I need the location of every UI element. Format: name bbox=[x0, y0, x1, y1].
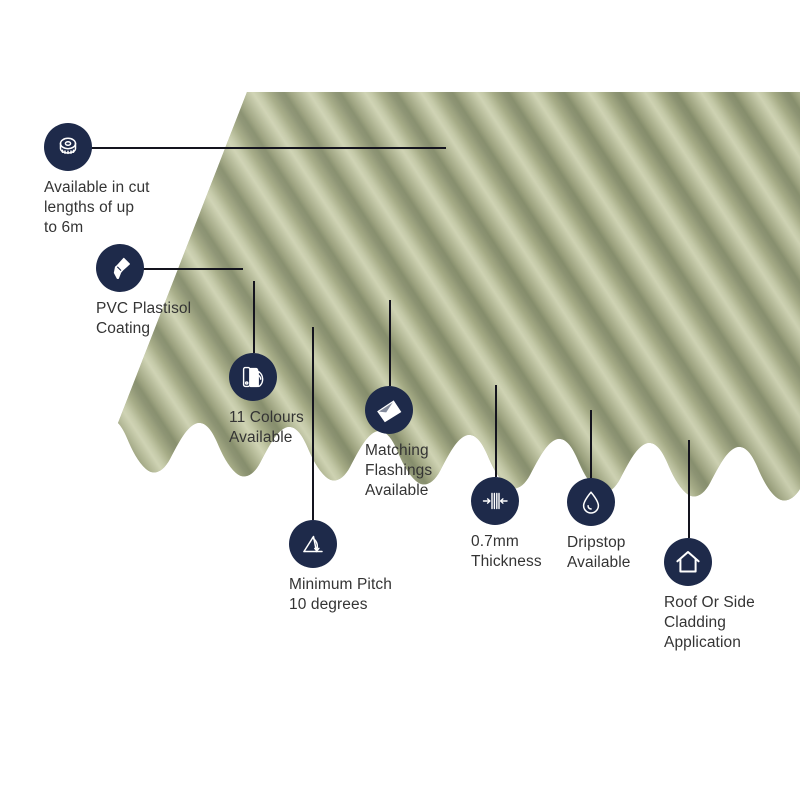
connector-line-dripstop bbox=[590, 410, 592, 478]
feature-application[interactable]: Roof Or Side Cladding Application bbox=[664, 538, 794, 653]
feature-thickness[interactable]: 0.7mm Thickness bbox=[471, 477, 566, 572]
feature-label-colours: 11 Colours Available bbox=[229, 408, 359, 448]
angle-pitch-icon bbox=[289, 520, 337, 568]
connector-line-flashings bbox=[389, 300, 391, 386]
feature-dripstop[interactable]: Dripstop Available bbox=[567, 478, 667, 573]
feature-pvc-plastisol[interactable]: PVC Plastisol Coating bbox=[96, 244, 266, 339]
colour-swatch-fan-icon bbox=[229, 353, 277, 401]
connector-line-thickness bbox=[495, 385, 497, 477]
paint-brush-icon bbox=[96, 244, 144, 292]
feature-label-thickness: 0.7mm Thickness bbox=[471, 532, 566, 572]
feature-cut-lengths[interactable]: Available in cut lengths of up to 6m bbox=[44, 123, 204, 238]
feature-label-pitch: Minimum Pitch 10 degrees bbox=[289, 575, 439, 615]
feature-label-flashings: Matching Flashings Available bbox=[365, 441, 485, 501]
tape-measure-icon bbox=[44, 123, 92, 171]
feature-flashings[interactable]: Matching Flashings Available bbox=[365, 386, 485, 501]
house-icon bbox=[664, 538, 712, 586]
feature-label-cut-lengths: Available in cut lengths of up to 6m bbox=[44, 178, 204, 238]
product-feature-infographic: Available in cut lengths of up to 6m PVC… bbox=[0, 0, 800, 800]
connector-line-application bbox=[688, 440, 690, 538]
thickness-arrows-icon bbox=[471, 477, 519, 525]
feature-label-application: Roof Or Side Cladding Application bbox=[664, 593, 794, 653]
feature-pitch[interactable]: Minimum Pitch 10 degrees bbox=[289, 520, 439, 615]
water-drop-icon bbox=[567, 478, 615, 526]
feature-label-pvc-plastisol: PVC Plastisol Coating bbox=[96, 299, 266, 339]
feature-label-dripstop: Dripstop Available bbox=[567, 533, 667, 573]
flashing-fold-icon bbox=[365, 386, 413, 434]
feature-colours[interactable]: 11 Colours Available bbox=[229, 353, 359, 448]
